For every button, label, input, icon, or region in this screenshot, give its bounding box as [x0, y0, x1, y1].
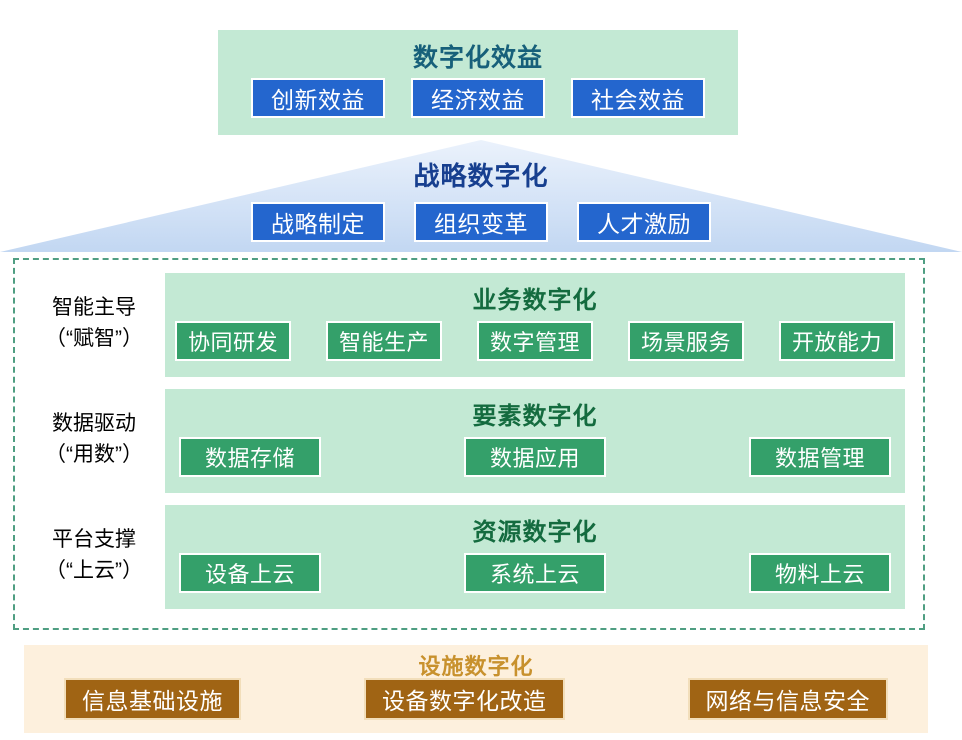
business-chip-scenario-service[interactable]: 场景服务: [628, 321, 744, 361]
business-chip-collaborative-rd[interactable]: 协同研发: [175, 321, 291, 361]
layer-label-business-line2: （“赋智”）: [23, 323, 165, 354]
strategy-chip-talent[interactable]: 人才激励: [577, 202, 711, 242]
layer-label-resource-line1: 平台支撑: [23, 524, 165, 555]
strategy-chip-org-reform[interactable]: 组织变革: [414, 202, 548, 242]
layer-title-resource: 资源数字化: [165, 512, 905, 547]
facility-panel-title: 设施数字化: [24, 649, 928, 681]
facility-chip-network-security[interactable]: 网络与信息安全: [688, 678, 889, 720]
layer-label-element-line1: 数据驱动: [23, 408, 165, 439]
layer-label-business: 智能主导 （“赋智”）: [23, 292, 165, 354]
layer-panel-element: 要素数字化 数据存储 数据应用 数据管理: [165, 389, 905, 493]
strategy-chip-planning[interactable]: 战略制定: [251, 202, 385, 242]
layer-label-business-line1: 智能主导: [23, 292, 165, 323]
benefit-chip-row: 创新效益 经济效益 社会效益: [218, 78, 738, 118]
business-chip-smart-production[interactable]: 智能生产: [326, 321, 442, 361]
facility-chip-it-infrastructure[interactable]: 信息基础设施: [64, 678, 241, 720]
layer-label-element-line2: （“用数”）: [23, 439, 165, 470]
layer-row-business: 智能主导 （“赋智”） 业务数字化 协同研发 智能生产 数字管理 场景服务 开放…: [15, 270, 923, 380]
layer-chip-row-element: 数据存储 数据应用 数据管理: [175, 437, 895, 477]
layer-label-resource-line2: （“上云”）: [23, 555, 165, 586]
digitalization-layers-box: 智能主导 （“赋智”） 业务数字化 协同研发 智能生产 数字管理 场景服务 开放…: [13, 258, 925, 630]
business-chip-digital-management[interactable]: 数字管理: [477, 321, 593, 361]
layer-title-business: 业务数字化: [165, 280, 905, 315]
layer-panel-resource: 资源数字化 设备上云 系统上云 物料上云: [165, 505, 905, 609]
layer-title-element: 要素数字化: [165, 396, 905, 431]
diagram-canvas: 数字化效益 创新效益 经济效益 社会效益 战略数字化 战略制定 组织变革 人才激…: [0, 0, 962, 740]
benefit-panel: 数字化效益 创新效益 经济效益 社会效益: [218, 30, 738, 135]
layer-chip-row-resource: 设备上云 系统上云 物料上云: [175, 553, 895, 593]
strategy-section: 战略数字化 战略制定 组织变革 人才激励: [0, 140, 962, 252]
benefit-chip-innovation[interactable]: 创新效益: [251, 78, 385, 118]
strategy-chip-row: 战略制定 组织变革 人才激励: [0, 202, 962, 242]
resource-chip-system-cloud[interactable]: 系统上云: [464, 553, 606, 593]
layer-panel-business: 业务数字化 协同研发 智能生产 数字管理 场景服务 开放能力: [165, 273, 905, 377]
facility-panel: 设施数字化 信息基础设施 设备数字化改造 网络与信息安全: [24, 645, 928, 733]
benefit-panel-title: 数字化效益: [218, 38, 738, 74]
benefit-chip-social[interactable]: 社会效益: [571, 78, 705, 118]
resource-chip-equipment-cloud[interactable]: 设备上云: [179, 553, 321, 593]
layer-label-resource: 平台支撑 （“上云”）: [23, 524, 165, 586]
element-chip-data-application[interactable]: 数据应用: [464, 437, 606, 477]
facility-chip-equipment-upgrade[interactable]: 设备数字化改造: [364, 678, 565, 720]
business-chip-open-capability[interactable]: 开放能力: [779, 321, 895, 361]
benefit-chip-economic[interactable]: 经济效益: [411, 78, 545, 118]
layer-row-resource: 平台支撑 （“上云”） 资源数字化 设备上云 系统上云 物料上云: [15, 502, 923, 612]
layer-row-element: 数据驱动 （“用数”） 要素数字化 数据存储 数据应用 数据管理: [15, 386, 923, 496]
element-chip-data-management[interactable]: 数据管理: [749, 437, 891, 477]
layer-label-element: 数据驱动 （“用数”）: [23, 408, 165, 470]
element-chip-data-storage[interactable]: 数据存储: [179, 437, 321, 477]
layer-chip-row-business: 协同研发 智能生产 数字管理 场景服务 开放能力: [175, 321, 895, 361]
facility-chip-row: 信息基础设施 设备数字化改造 网络与信息安全: [64, 678, 888, 720]
resource-chip-material-cloud[interactable]: 物料上云: [749, 553, 891, 593]
strategy-title: 战略数字化: [0, 156, 962, 193]
